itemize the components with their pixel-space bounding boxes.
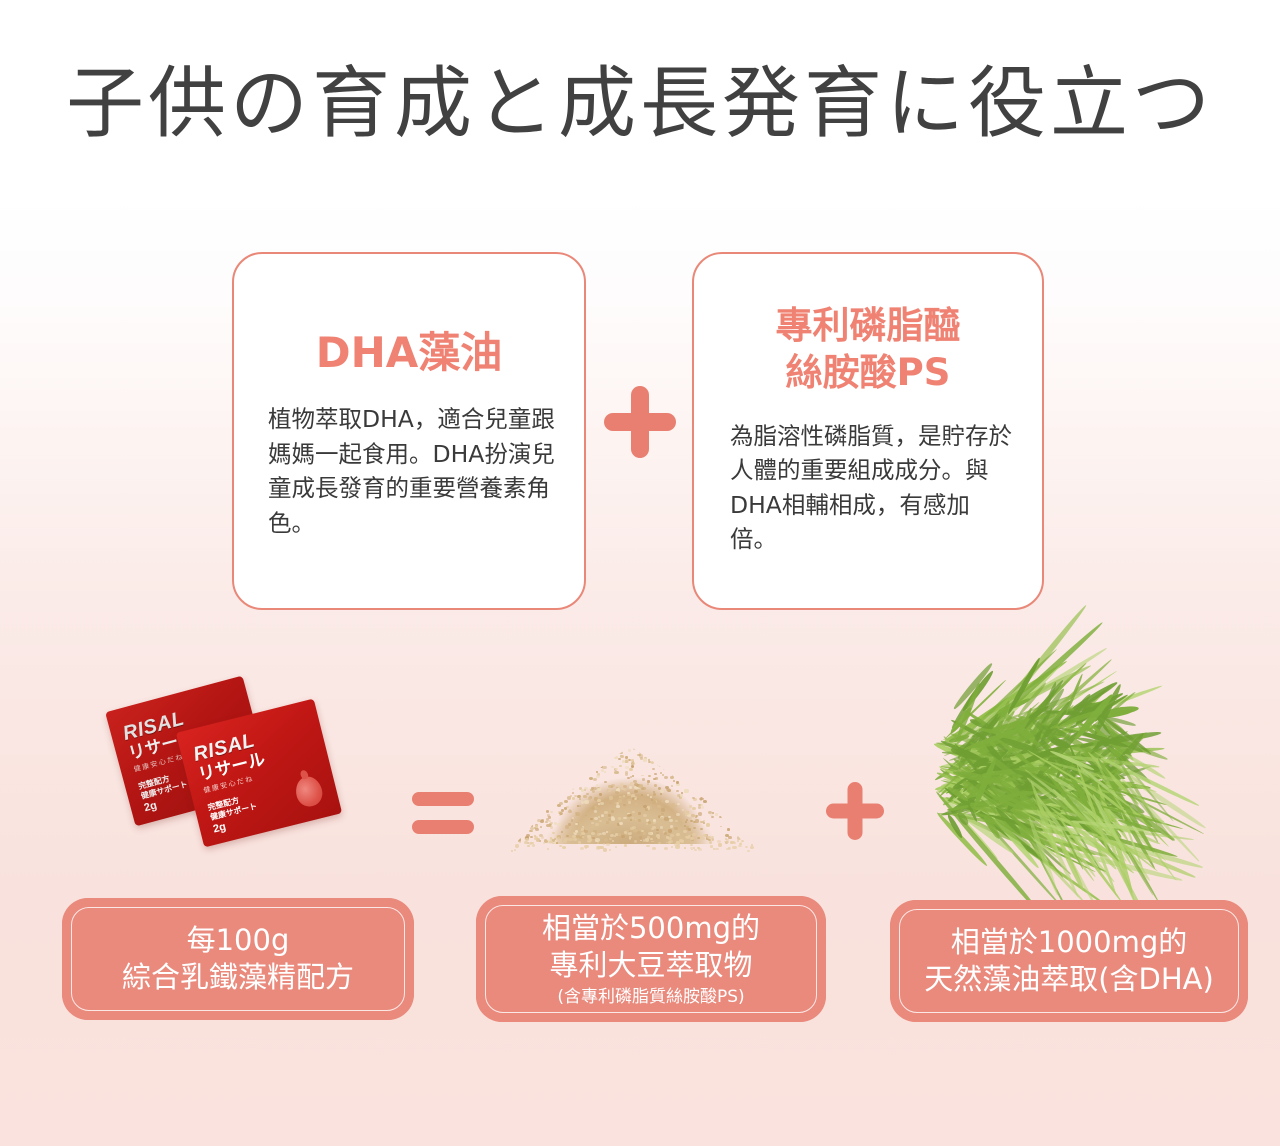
soy-grain (625, 759, 629, 762)
soy-grain (631, 759, 634, 762)
soy-grain (592, 790, 596, 793)
soy-grain (615, 791, 619, 794)
soy-grain (532, 844, 535, 847)
tomato-mascot-icon (293, 774, 325, 809)
soy-grain (700, 821, 703, 824)
soy-grain (550, 837, 552, 839)
soy-grain (632, 738, 635, 740)
soy-grain (649, 756, 653, 759)
soy-extract-granules-image (505, 705, 755, 860)
soy-grain (563, 840, 567, 843)
soy-grain (602, 766, 606, 770)
soy-grain (651, 761, 655, 764)
soy-grain (664, 776, 668, 779)
sachet-weight: 2g (143, 800, 158, 814)
soy-grain (634, 840, 637, 843)
soy-grain (541, 819, 543, 821)
soy-grain (588, 797, 591, 800)
soy-grain (615, 846, 618, 848)
soy-grain (692, 818, 694, 820)
soy-grain (582, 777, 585, 780)
soy-grain (534, 837, 538, 840)
soy-grain (604, 781, 606, 783)
soy-grain (585, 815, 587, 817)
soy-grain (603, 760, 605, 762)
seaweed-algae-image (900, 675, 1170, 875)
soy-grain (660, 793, 662, 795)
pill-line2: 綜合乳鐵藻精配方 (122, 959, 354, 996)
soy-grain (599, 820, 602, 822)
soy-grain (677, 803, 680, 805)
soy-grain (638, 819, 641, 822)
soy-grain (630, 782, 633, 785)
soy-grain (640, 757, 643, 760)
soy-grain (634, 790, 638, 793)
soy-grain (548, 816, 551, 819)
soy-grain (645, 808, 649, 811)
soy-grain (581, 801, 584, 803)
soy-grain (579, 805, 582, 807)
soy-grain (659, 763, 663, 766)
soy-grain (623, 804, 626, 806)
soy-grain (572, 788, 575, 790)
soy-grain (562, 846, 566, 849)
soy-grain (618, 758, 621, 760)
soy-grain (574, 795, 576, 797)
soy-grain (623, 817, 626, 820)
soy-grain (596, 784, 598, 786)
soy-grain (618, 799, 622, 802)
soy-grain (684, 791, 687, 793)
soy-grain (685, 811, 689, 815)
promo-graphic: 子供の育成と成長発育に役立つ DHA藻油 植物萃取DHA，適合兒童跟媽媽一起食用… (0, 0, 1280, 1146)
soy-grain (673, 780, 675, 782)
soy-grain (634, 798, 636, 800)
soy-grain (732, 846, 736, 849)
product-sachets: RISAL リサール 健康安心だね 完整配方 健康サポート 2g RISAL リ… (112, 688, 342, 858)
soy-grain (711, 836, 714, 838)
soy-grain (718, 843, 722, 846)
page-title: 子供の育成と成長発育に役立つ (0, 58, 1280, 150)
soy-grain (676, 833, 679, 836)
soy-grain (648, 761, 650, 763)
soy-grain (747, 850, 749, 852)
soy-grain (719, 816, 722, 819)
soy-grain (621, 752, 623, 754)
pill-line1: 每100g (187, 922, 290, 959)
soy-grain (543, 842, 546, 844)
soy-grain (692, 807, 696, 810)
soy-grain (616, 805, 619, 808)
sachet-weight: 2g (212, 822, 227, 836)
soy-grain (684, 847, 687, 849)
soy-grain (530, 842, 533, 845)
soy-grain (630, 789, 632, 791)
soy-grain (661, 813, 664, 816)
soy-grain (619, 765, 622, 767)
soy-grain (630, 776, 632, 778)
soy-grain (652, 800, 656, 803)
soy-grain (670, 834, 674, 837)
pill-line2: 專利大豆萃取物 (549, 947, 752, 984)
soy-grain (668, 789, 671, 792)
soy-grain (632, 775, 634, 777)
soy-grain (711, 816, 713, 818)
soy-grain (628, 801, 631, 803)
pill-line3: (含專利磷脂質絲胺酸PS) (557, 986, 744, 1008)
soy-grain (609, 796, 613, 799)
soy-grain (582, 836, 584, 838)
soy-grain (700, 797, 704, 800)
soy-grain (647, 783, 649, 785)
soy-grain (641, 775, 643, 777)
soy-grain (514, 849, 516, 851)
soy-grain (715, 813, 718, 815)
soy-grain (597, 765, 600, 768)
soy-grain (703, 800, 706, 803)
soy-grain (647, 780, 650, 782)
soy-grain (606, 843, 610, 846)
soy-grain (690, 844, 692, 846)
soy-grain (647, 794, 649, 796)
soy-grain (698, 835, 700, 837)
soy-grain (663, 767, 667, 770)
soy-grain (685, 821, 687, 823)
soy-grain (693, 847, 695, 849)
soy-grain (597, 846, 601, 850)
soy-grain (625, 739, 629, 742)
soy-grain (603, 760, 606, 763)
soy-grain (715, 848, 718, 851)
soy-grain (745, 846, 748, 848)
soy-grain (648, 775, 651, 777)
soy-grain (690, 847, 693, 849)
plus-icon-vertical-bar (848, 782, 863, 840)
soy-grain (646, 845, 649, 848)
soy-grain (648, 832, 652, 835)
soy-grain (694, 849, 697, 851)
soy-grain (638, 812, 641, 814)
soy-grain (733, 841, 735, 843)
soy-grain (669, 840, 672, 843)
soy-grain (671, 785, 674, 787)
soy-grain (676, 813, 680, 816)
soy-grain (527, 845, 529, 847)
soy-grain (524, 841, 528, 844)
soy-grain (604, 771, 606, 773)
soy-grain (651, 841, 653, 843)
soy-grain (559, 815, 561, 817)
soy-grain (597, 788, 601, 791)
soy-grain (690, 820, 693, 822)
soy-grain (603, 848, 607, 851)
soy-grain (580, 847, 584, 850)
soy-grain (579, 781, 581, 783)
soy-grain (671, 846, 673, 848)
soy-grain (676, 790, 678, 792)
soy-grain (572, 792, 574, 794)
equals-icon (412, 792, 474, 834)
soy-grain (546, 810, 550, 813)
soy-grain (609, 849, 611, 851)
info-card-ps-title: 專利磷脂醯絲胺酸PS (720, 302, 1016, 397)
soy-grain (643, 758, 647, 761)
soy-grain (594, 810, 597, 813)
soy-grain (710, 845, 713, 847)
equals-icon-bottom-bar (412, 820, 474, 834)
soy-grain (583, 833, 585, 835)
soy-grain (659, 761, 663, 764)
soy-grain (628, 819, 630, 821)
soy-grain (741, 840, 744, 843)
soy-grain (584, 845, 589, 849)
pill-line1: 相當於1000mg的 (951, 924, 1187, 961)
ingredient-pill-algae: 相當於1000mg的 天然藻油萃取(含DHA) (890, 900, 1248, 1022)
soy-grain (560, 840, 562, 842)
soy-grain (568, 838, 572, 842)
soy-grain (654, 784, 658, 787)
soy-grain (573, 838, 577, 841)
info-card-dha-title: DHA藻油 (260, 330, 558, 376)
soy-grain (587, 839, 591, 842)
soy-grain (726, 841, 728, 843)
soy-grain (564, 807, 567, 809)
soy-grain (630, 819, 633, 821)
soy-grain (639, 752, 642, 754)
soy-grain (611, 755, 615, 758)
soy-grain (652, 768, 655, 771)
soy-grain (660, 789, 664, 792)
soy-grain (627, 777, 629, 779)
soy-grain (641, 794, 643, 796)
soy-grain (571, 819, 574, 821)
soy-grain (701, 806, 704, 809)
soy-grain (657, 805, 661, 808)
soy-grain (597, 842, 599, 844)
soy-grain (665, 786, 669, 789)
soy-grain (629, 768, 633, 771)
soy-grain (564, 800, 568, 803)
soy-scattered-grains (505, 824, 755, 852)
soy-grain (643, 814, 647, 817)
soy-grain (636, 798, 638, 800)
soy-grain (581, 789, 584, 791)
info-card-ps-body: 為脂溶性磷脂質，是貯存於人體的重要組成成分。與DHA相輔相成，有感加倍。 (720, 419, 1016, 557)
soy-grain (633, 746, 637, 750)
soy-grain (725, 838, 727, 840)
soy-grain (519, 841, 521, 843)
soy-grain (600, 802, 603, 805)
soy-grain (701, 837, 705, 840)
soy-grain (661, 800, 665, 803)
soy-grain (664, 847, 668, 850)
soy-grain (583, 795, 586, 798)
soy-grain (680, 840, 684, 843)
soy-grain (623, 785, 627, 788)
soy-grain (596, 775, 600, 778)
soy-grain (629, 838, 631, 840)
soy-grain (669, 819, 673, 823)
soy-grain (653, 778, 656, 781)
soy-grain (591, 807, 595, 810)
plus-icon (826, 782, 884, 840)
soy-grain (599, 793, 603, 796)
soy-grain (656, 834, 660, 838)
info-card-ps: 專利磷脂醯絲胺酸PS 為脂溶性磷脂質，是貯存於人體的重要組成成分。與DHA相輔相… (692, 252, 1044, 610)
soy-grain (653, 819, 656, 821)
soy-grain (550, 811, 553, 813)
soy-grain (611, 816, 614, 818)
soy-grain (561, 809, 564, 811)
soy-grain (645, 838, 650, 842)
soy-grain (511, 850, 513, 852)
soy-grain (670, 776, 674, 779)
soy-grain (632, 811, 635, 813)
ingredient-pill-soy: 相當於500mg的 專利大豆萃取物 (含專利磷脂質絲胺酸PS) (476, 896, 826, 1022)
soy-grain (658, 842, 660, 844)
soy-grain (597, 833, 600, 835)
soy-grain (631, 762, 634, 764)
soy-grain (620, 755, 624, 758)
soy-grain (593, 778, 597, 781)
ingredient-pill-formula: 每100g 綜合乳鐵藻精配方 (62, 898, 414, 1020)
soy-grain (541, 836, 545, 839)
soy-grain (709, 841, 713, 844)
soy-grain (692, 833, 697, 837)
soy-grain (601, 815, 604, 817)
soy-grain (624, 844, 627, 846)
soy-grain (638, 785, 642, 789)
soy-grain (609, 802, 611, 804)
soy-grain (614, 802, 616, 804)
soy-grain (588, 837, 590, 839)
soy-grain (559, 802, 563, 805)
soy-grain (598, 816, 601, 818)
soy-grain (739, 843, 742, 845)
soy-grain (579, 798, 581, 800)
soy-grain (618, 817, 621, 820)
soy-grain (552, 843, 554, 845)
soy-grain (650, 796, 652, 798)
soy-grain (608, 814, 611, 817)
soy-grain (672, 803, 674, 805)
soy-grain (654, 773, 656, 775)
soy-grain (634, 783, 638, 786)
soy-grain (584, 800, 588, 803)
soy-grain (515, 844, 519, 848)
soy-grain (572, 797, 575, 800)
soy-grain (545, 821, 548, 823)
plus-icon-vertical-bar (631, 386, 649, 458)
soy-grain (608, 789, 612, 792)
soy-grain (661, 808, 665, 812)
plus-icon (604, 386, 676, 458)
soy-grain (675, 820, 678, 822)
soy-grain (666, 836, 670, 839)
soy-grain (547, 848, 550, 850)
soy-grain (615, 833, 618, 836)
soy-grain (590, 818, 592, 820)
soy-grain (631, 765, 634, 768)
soy-grain (698, 812, 702, 815)
soy-grain (591, 832, 595, 835)
soy-grain (690, 837, 694, 840)
soy-grain (567, 796, 571, 799)
soy-grain (627, 792, 630, 794)
pill-line1: 相當於500mg的 (542, 910, 760, 947)
equals-icon-top-bar (412, 792, 474, 806)
soy-grain (614, 756, 618, 759)
soy-grain (642, 778, 645, 780)
soy-grain (612, 840, 615, 842)
soy-grain (635, 803, 638, 806)
soy-grain (608, 785, 612, 788)
soy-grain (627, 814, 631, 817)
soy-grain (637, 754, 639, 756)
info-card-dha: DHA藻油 植物萃取DHA，適合兒童跟媽媽一起食用。DHA扮演兒童成長發育的重要… (232, 252, 586, 610)
soy-grain (603, 843, 605, 845)
soy-grain (680, 797, 683, 799)
soy-grain (653, 793, 656, 796)
soy-grain (614, 771, 618, 775)
soy-grain (665, 800, 669, 803)
soy-grain (578, 841, 581, 844)
soy-grain (611, 810, 614, 813)
soy-grain (558, 842, 560, 844)
soy-grain (652, 847, 656, 851)
soy-grain (682, 809, 684, 811)
soy-grain (620, 796, 624, 799)
pill-line2: 天然藻油萃取(含DHA) (924, 961, 1214, 998)
info-card-dha-body: 植物萃取DHA，適合兒童跟媽媽一起食用。DHA扮演兒童成長發育的重要營養素角色。 (260, 402, 558, 540)
soy-grain (628, 749, 631, 752)
soy-grain (652, 755, 655, 757)
soy-grain (624, 789, 626, 791)
